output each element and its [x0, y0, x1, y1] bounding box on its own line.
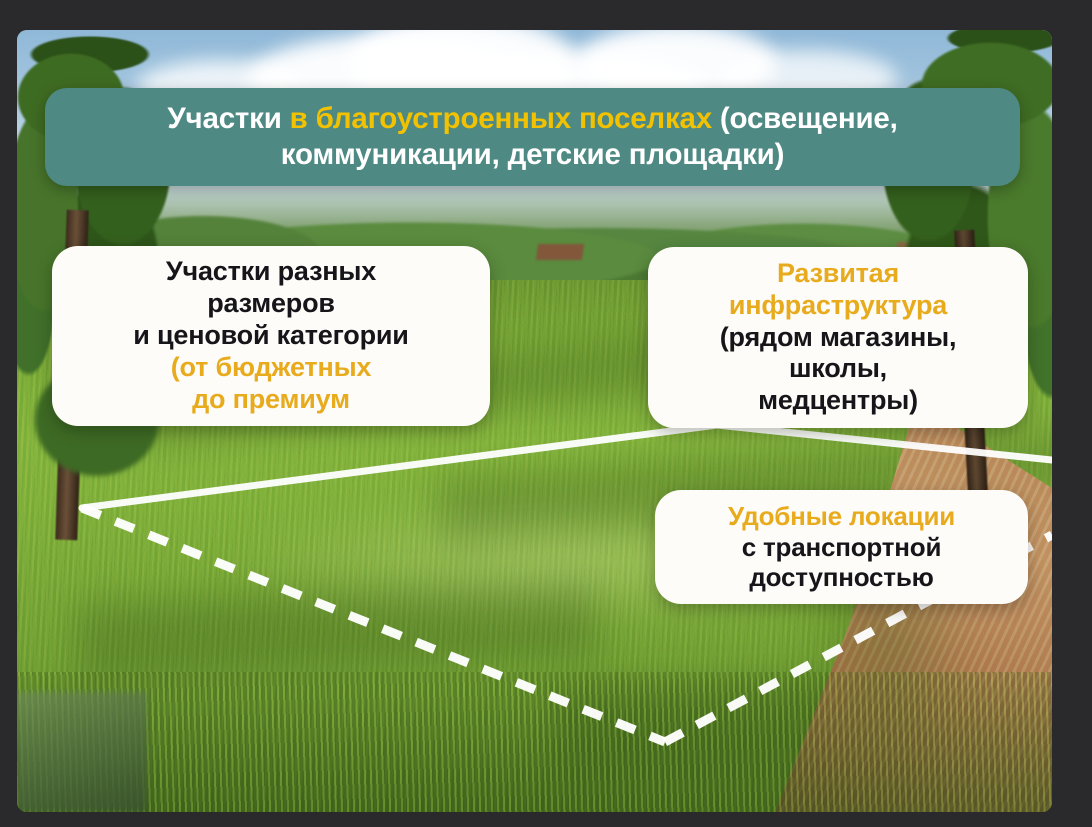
plot-sizes-accent-line1: (от бюджетных	[171, 352, 372, 382]
locations-accent-line1: Удобные локации	[728, 501, 955, 531]
watermark	[699, 675, 1002, 775]
banner-text: Участки в благоустроенных поселках (осве…	[167, 101, 897, 173]
infrastructure-card-text: Развитая инфраструктура (рядом магазины,…	[720, 258, 957, 417]
locations-card-text: Удобные локации с транспортной доступнос…	[728, 501, 955, 593]
infrastructure-card: Развитая инфраструктура (рядом магазины,…	[648, 247, 1028, 428]
house-roof	[536, 244, 584, 260]
infrastructure-accent-line1: Развитая	[777, 258, 899, 288]
locations-line2: доступностью	[749, 562, 933, 592]
infrastructure-accent-line2: инфраструктура	[729, 290, 947, 320]
plot-sizes-accent-line2: до премиум	[192, 384, 350, 414]
infrastructure-line3: медцентры)	[758, 385, 918, 415]
infrastructure-line1: (рядом магазины,	[720, 322, 957, 352]
plot-sizes-line3: и ценовой категории	[133, 320, 408, 350]
plot-sizes-card-text: Участки разных размеров и ценовой катего…	[133, 256, 408, 415]
plot-sizes-line2: размеров	[207, 288, 335, 318]
infrastructure-line2: школы,	[789, 353, 887, 383]
banner-line2: коммуникации, детские площадки)	[281, 138, 784, 171]
banner-line1-part1: Участки	[167, 102, 289, 135]
locations-line1: с транспортной	[742, 532, 942, 562]
locations-card: Удобные локации с транспортной доступнос…	[655, 490, 1028, 604]
plot-sizes-card: Участки разных размеров и ценовой катего…	[52, 246, 490, 426]
plot-sizes-line1: Участки разных	[166, 256, 376, 286]
water-ditch	[17, 692, 147, 812]
banner-line1-part2: (освещение,	[712, 102, 898, 135]
screenshot-frame: Участки в благоустроенных поселках (осве…	[0, 0, 1092, 827]
header-banner: Участки в благоустроенных поселках (осве…	[45, 88, 1020, 186]
banner-line1-highlight: в благоустроенных поселках	[290, 102, 712, 135]
